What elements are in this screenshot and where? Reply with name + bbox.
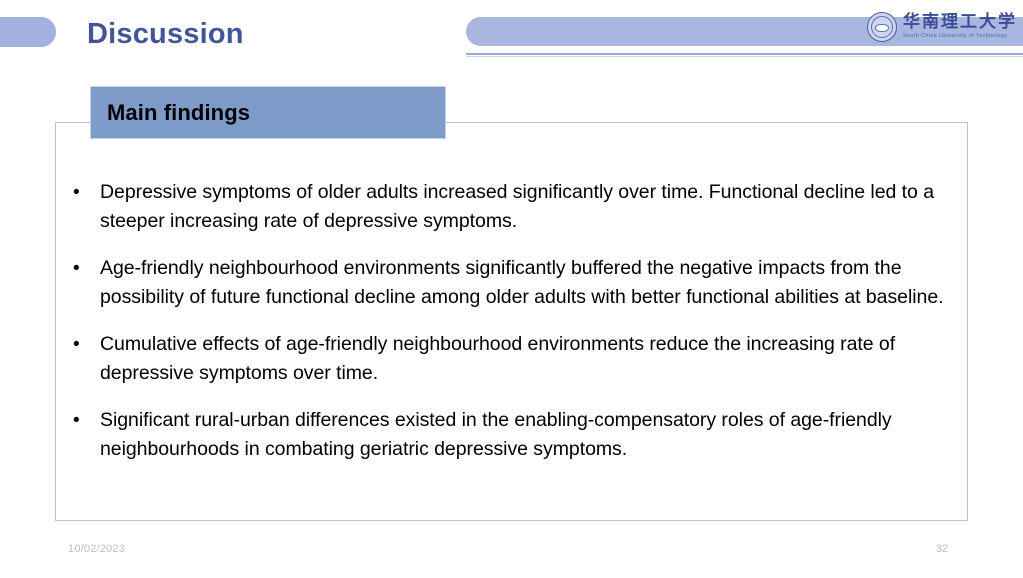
bullet-marker-icon: • xyxy=(70,254,100,283)
list-item-text: Age-friendly neighbourhood environments … xyxy=(100,254,960,312)
bullet-marker-icon: • xyxy=(70,330,100,359)
section-banner: Main findings xyxy=(90,86,446,139)
slide-page-number: 32 xyxy=(930,543,954,555)
header-divider-rule xyxy=(466,53,1023,57)
page-title: Discussion xyxy=(87,16,244,52)
list-item-text: Significant rural-urban differences exis… xyxy=(100,406,960,464)
bullet-marker-icon: • xyxy=(70,406,100,435)
findings-bullet-list: • Depressive symptoms of older adults in… xyxy=(70,178,960,464)
section-banner-label: Main findings xyxy=(107,100,250,126)
list-item-text: Depressive symptoms of older adults incr… xyxy=(100,178,960,236)
header-right-bar xyxy=(466,17,1023,46)
bullet-marker-icon: • xyxy=(70,178,100,207)
list-item: • Cumulative effects of age-friendly nei… xyxy=(70,330,960,388)
list-item: • Age-friendly neighbourhood environment… xyxy=(70,254,960,312)
list-item: • Depressive symptoms of older adults in… xyxy=(70,178,960,236)
header-left-pill xyxy=(0,17,56,47)
list-item: • Significant rural-urban differences ex… xyxy=(70,406,960,464)
presentation-slide: Discussion 华南理工大学 South China University… xyxy=(0,0,1023,578)
list-item-text: Cumulative effects of age-friendly neigh… xyxy=(100,330,960,388)
footer-date: 10/02/2023 xyxy=(68,543,125,555)
